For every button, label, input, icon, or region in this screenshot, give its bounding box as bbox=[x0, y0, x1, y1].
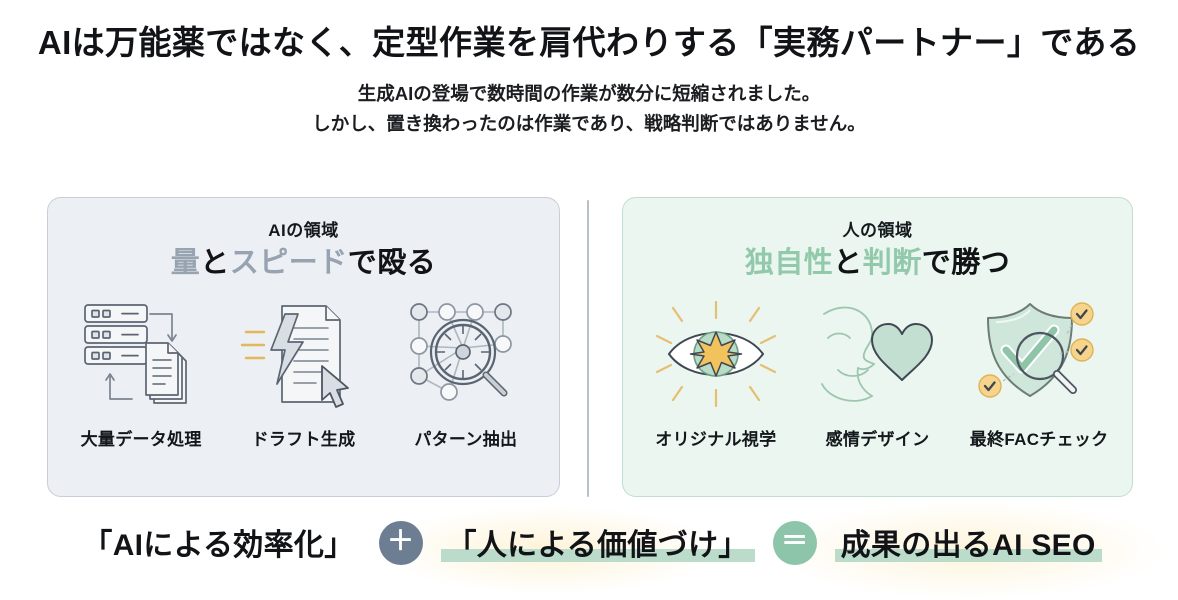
radiant-eye-icon bbox=[636, 295, 796, 413]
plus-icon: ＋ bbox=[379, 521, 423, 565]
shield-check-magnifier-icon bbox=[959, 295, 1119, 413]
document-lightning-cursor-icon bbox=[223, 295, 383, 413]
item-original-perspective: オリジナル視学 bbox=[636, 295, 796, 450]
item-label: オリジナル視学 bbox=[636, 425, 796, 450]
page-title: AIは万能薬ではなく、定型作業を肩代わりする「実務パートナー」である bbox=[0, 22, 1178, 63]
card-ai-headline-accent-1: 量 bbox=[171, 247, 201, 279]
item-label: 感情デザイン bbox=[797, 425, 957, 450]
card-ai-items: 大量データ処理 bbox=[48, 295, 559, 450]
card-human-domain: 人の領域 独自性と判断で勝つ オリジナル視学 bbox=[622, 197, 1133, 497]
subtitle-line-1: 生成AIの登場で数時間の作業が数分に短縮されました。 bbox=[0, 79, 1178, 109]
card-human-eyebrow: 人の領域 bbox=[623, 216, 1132, 241]
formula-term-result: 成果の出るAI SEO bbox=[835, 518, 1102, 568]
equals-icon: ＝ bbox=[773, 521, 817, 565]
formula-row: 「AIによる効率化」 ＋ 「人による価値づけ」 ＝ 成果の出るAI SEO bbox=[0, 518, 1178, 568]
card-ai-header: AIの領域 量とスピードで殴る bbox=[48, 198, 559, 281]
page-subtitle: 生成AIの登場で数時間の作業が数分に短縮されました。 しかし、置き換わったのは作… bbox=[0, 79, 1178, 139]
card-human-headline: 独自性と判断で勝つ bbox=[623, 246, 1132, 281]
card-ai-headline: 量とスピードで殴る bbox=[48, 246, 559, 281]
item-pattern-extraction: パターン抽出 bbox=[386, 295, 546, 450]
item-final-fact-check: 最終FACチェック bbox=[959, 295, 1119, 450]
card-human-header: 人の領域 独自性と判断で勝つ bbox=[623, 198, 1132, 281]
formula-term-human-value: 「人による価値づけ」 bbox=[441, 518, 755, 568]
card-human-headline-plain-2: で勝つ bbox=[922, 247, 1011, 279]
card-human-headline-plain-1: と bbox=[833, 247, 863, 279]
card-human-headline-accent-1: 独自性 bbox=[745, 247, 834, 279]
server-documents-icon bbox=[61, 295, 221, 413]
card-ai-headline-accent-2: スピード bbox=[230, 247, 348, 279]
card-divider bbox=[587, 200, 589, 497]
card-ai-eyebrow: AIの領域 bbox=[48, 216, 559, 241]
card-ai-headline-plain-1: と bbox=[200, 247, 230, 279]
header: AIは万能薬ではなく、定型作業を肩代わりする「実務パートナー」である 生成AIの… bbox=[0, 0, 1178, 139]
item-label: ドラフト生成 bbox=[223, 425, 383, 450]
subtitle-line-2: しかし、置き換わったのは作業であり、戦略判断ではありません。 bbox=[0, 109, 1178, 139]
item-draft-generation: ドラフト生成 bbox=[223, 295, 383, 450]
item-emotional-design: 感情デザイン bbox=[797, 295, 957, 450]
face-heart-icon bbox=[797, 295, 957, 413]
card-human-headline-accent-2: 判断 bbox=[863, 247, 922, 279]
card-human-items: オリジナル視学 感情デザイン bbox=[623, 295, 1132, 450]
comparison-cards: AIの領域 量とスピードで殴る bbox=[0, 197, 1178, 499]
item-label: 大量データ処理 bbox=[61, 425, 221, 450]
network-magnifier-icon bbox=[386, 295, 546, 413]
item-label: パターン抽出 bbox=[386, 425, 546, 450]
card-ai-domain: AIの領域 量とスピードで殴る bbox=[47, 197, 560, 497]
card-ai-headline-plain-2: で殴る bbox=[348, 247, 437, 279]
item-label: 最終FACチェック bbox=[959, 425, 1119, 450]
formula-term-ai-efficiency: 「AIによる効率化」 bbox=[76, 518, 360, 568]
item-bulk-data-processing: 大量データ処理 bbox=[61, 295, 221, 450]
